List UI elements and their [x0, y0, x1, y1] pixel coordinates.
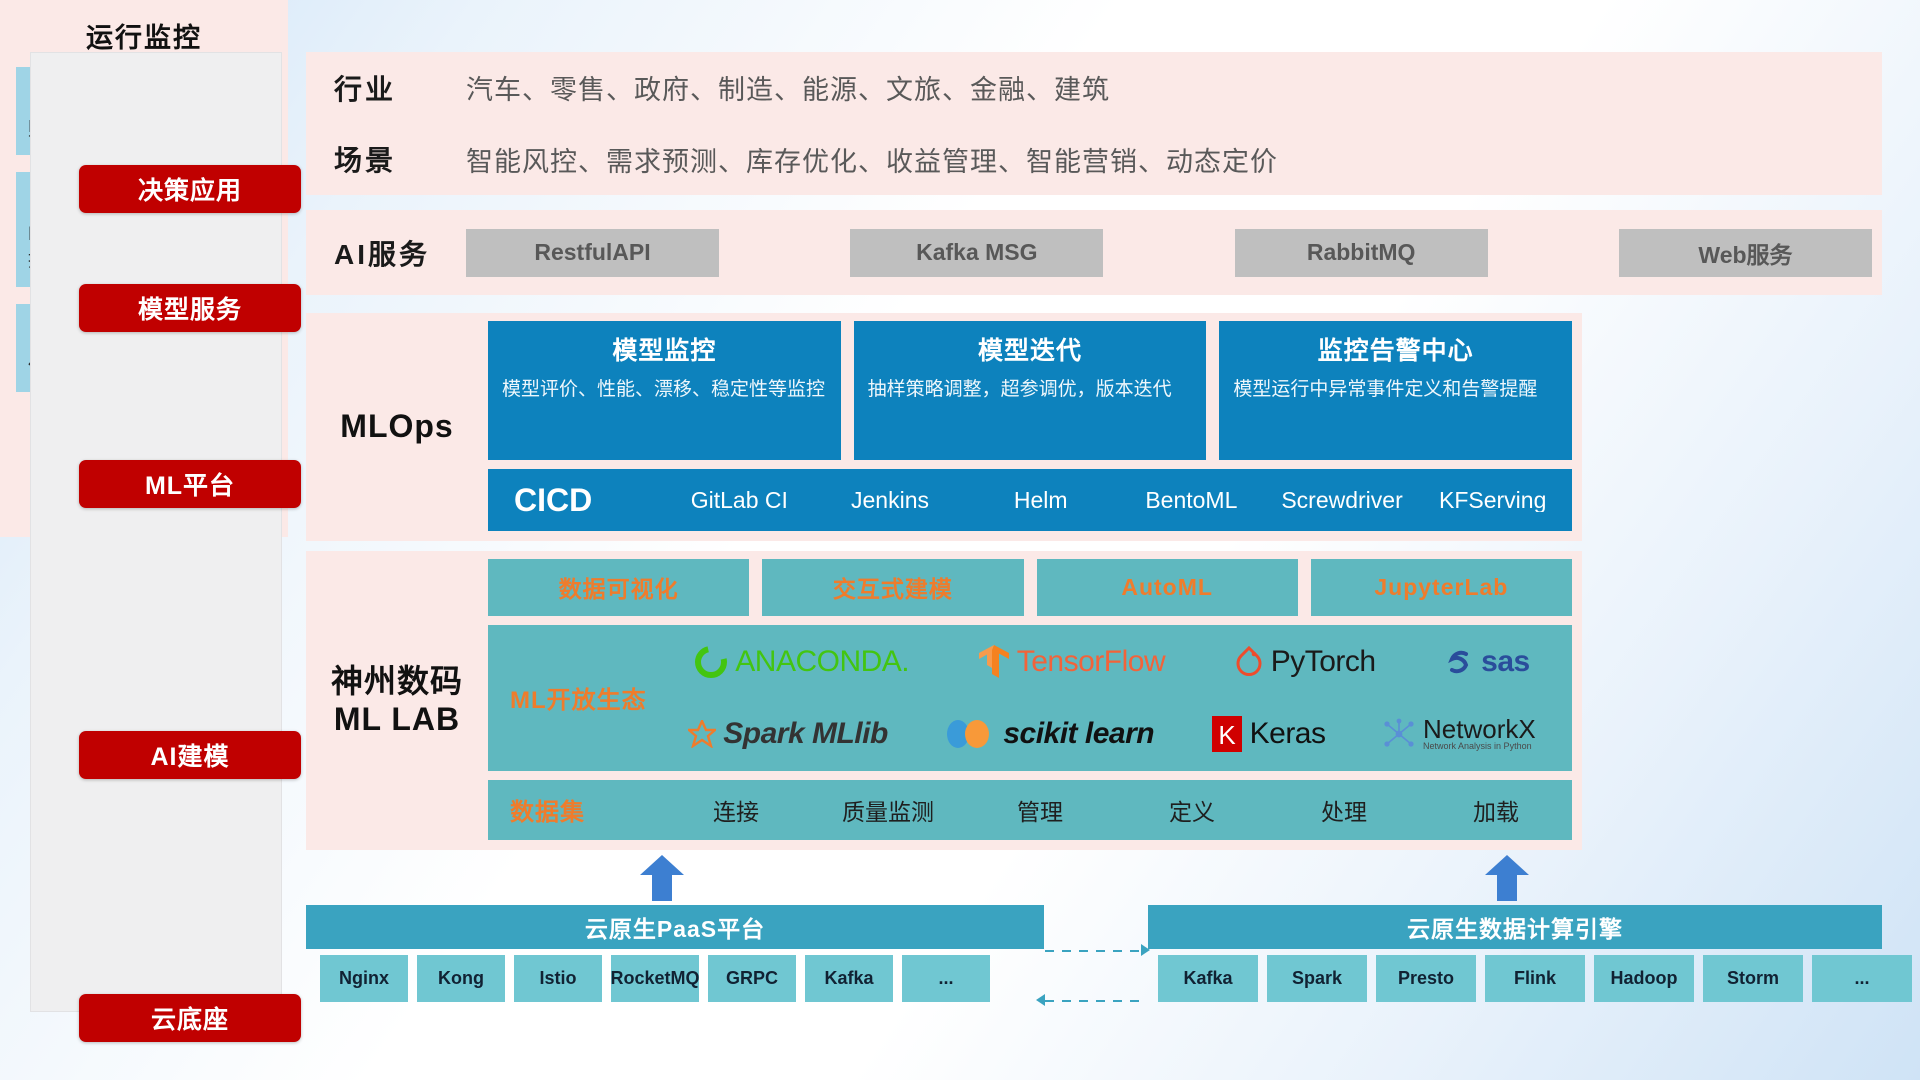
data-engine-chip-list: Kafka Spark Presto Flink Hadoop Storm ..… — [1158, 955, 1912, 1002]
industry-row: 行业 汽车、零售、政府、制造、能源、文旅、金融、建筑 — [306, 52, 1882, 124]
paas-chip[interactable]: RocketMQ — [611, 955, 699, 1002]
svg-text:K: K — [1218, 720, 1236, 750]
dataset-item[interactable]: 管理 — [964, 793, 1116, 827]
layer-pill-label: 云底座 — [151, 1000, 229, 1036]
ml-lab-label-line2: ML LAB — [331, 701, 463, 739]
up-arrow-icon-left — [640, 855, 684, 901]
anaconda-icon — [694, 645, 728, 679]
ml-lab-tab[interactable]: 数据可视化 — [488, 559, 749, 616]
mlops-band: MLOps 模型监控 模型评价、性能、漂移、稳定性等监控 模型迭代 抽样策略调整… — [306, 313, 1582, 541]
dashed-arrowhead-left — [1036, 994, 1045, 1006]
cloud-paas-title: 云原生PaaS平台 — [306, 905, 1044, 949]
mlops-card[interactable]: 监控告警中心 模型运行中异常事件定义和告警提醒 — [1219, 321, 1572, 460]
paas-chip-list: Nginx Kong Istio RocketMQ GRPC Kafka ... — [320, 955, 990, 1002]
dataset-item[interactable]: 连接 — [660, 793, 812, 827]
cicd-item[interactable]: Screwdriver — [1267, 488, 1418, 512]
ml-lab-label: 神州数码 ML LAB — [306, 551, 488, 850]
keras-icon: K — [1211, 715, 1243, 753]
layer-pill-decision-app[interactable]: 决策应用 — [79, 165, 301, 213]
mlops-card-title: 监控告警中心 — [1233, 331, 1558, 367]
mlops-card-desc: 模型评价、性能、漂移、稳定性等监控 — [502, 377, 827, 404]
scikit-learn-icon — [944, 717, 996, 751]
scenario-value: 智能风控、需求预测、库存优化、收益管理、智能营销、动态定价 — [466, 140, 1278, 179]
ml-lab-tab[interactable]: AutoML — [1037, 559, 1298, 616]
anaconda-label: ANACONDA. — [735, 645, 909, 679]
ecosystem-logo-row-1: ANACONDA. TensorFlow — [660, 628, 1564, 696]
ecosystem-logo-row-2: Spark MLlib scikit learn — [660, 700, 1564, 768]
scenario-row: 场景 智能风控、需求预测、库存优化、收益管理、智能营销、动态定价 — [306, 124, 1882, 196]
service-chip[interactable]: RestfulAPI — [466, 229, 719, 277]
mlops-content: 模型监控 模型评价、性能、漂移、稳定性等监控 模型迭代 抽样策略调整，超参调优，… — [488, 313, 1582, 541]
dataset-item[interactable]: 定义 — [1116, 793, 1268, 827]
data-engine-chip[interactable]: Flink — [1485, 955, 1585, 1002]
anaconda-logo: ANACONDA. — [694, 645, 909, 679]
ml-lab-tab-list: 数据可视化 交互式建模 AutoML JupyterLab — [488, 559, 1572, 616]
industry-label: 行业 — [334, 68, 466, 108]
cicd-item[interactable]: KFServing — [1417, 488, 1568, 512]
spark-mllib-label: Spark MLlib — [723, 717, 888, 751]
ml-lab-content: 数据可视化 交互式建模 AutoML JupyterLab ML开放生态 ANA… — [488, 551, 1582, 850]
service-chip[interactable]: Kafka MSG — [850, 229, 1103, 277]
data-engine-chip[interactable]: Presto — [1376, 955, 1476, 1002]
layer-pill-label: AI建模 — [150, 737, 229, 773]
tensorflow-icon — [978, 644, 1010, 680]
dataset-bar: 数据集 连接 质量监测 管理 定义 处理 加载 — [488, 780, 1572, 840]
dataset-item[interactable]: 加载 — [1420, 793, 1572, 827]
keras-label: Keras — [1250, 717, 1326, 751]
mlops-card-desc: 抽样策略调整，超参调优，版本迭代 — [868, 377, 1193, 404]
dataset-item[interactable]: 处理 — [1268, 793, 1420, 827]
spark-mllib-logo: Spark MLlib — [688, 717, 888, 751]
cicd-item[interactable]: Helm — [965, 488, 1116, 512]
ai-services-label: AI服务 — [334, 233, 466, 273]
mlops-card-title: 模型迭代 — [868, 331, 1193, 367]
networkx-icon — [1382, 718, 1416, 750]
up-arrow-icon-right — [1485, 855, 1529, 901]
ml-ecosystem-row: ML开放生态 ANACONDA. — [488, 625, 1572, 771]
layer-pill-label: 决策应用 — [138, 171, 242, 207]
cicd-item[interactable]: BentoML — [1116, 488, 1267, 512]
data-engine-chip[interactable]: Storm — [1703, 955, 1803, 1002]
industry-value: 汽车、零售、政府、制造、能源、文旅、金融、建筑 — [466, 68, 1110, 107]
keras-logo: K Keras — [1211, 715, 1326, 753]
mlops-card-list: 模型监控 模型评价、性能、漂移、稳定性等监控 模型迭代 抽样策略调整，超参调优，… — [488, 321, 1572, 460]
sas-icon — [1444, 647, 1474, 677]
cloud-data-engine-title: 云原生数据计算引擎 — [1148, 905, 1882, 949]
dataset-item[interactable]: 质量监测 — [812, 793, 964, 827]
data-engine-chip[interactable]: Spark — [1267, 955, 1367, 1002]
cicd-bar: CICD GitLab CI Jenkins Helm BentoML Scre… — [488, 469, 1572, 531]
ml-ecosystem-logos: ANACONDA. TensorFlow — [660, 628, 1572, 768]
data-engine-chip[interactable]: Kafka — [1158, 955, 1258, 1002]
data-engine-chip[interactable]: Hadoop — [1594, 955, 1694, 1002]
ml-lab-tab[interactable]: JupyterLab — [1311, 559, 1572, 616]
ml-lab-label-line1: 神州数码 — [331, 663, 463, 701]
architecture-diagram: 决策应用 模型服务 ML平台 AI建模 云底座 行业 汽车、零售、政府、制造、能… — [0, 0, 1920, 1080]
layer-pill-label: 模型服务 — [138, 290, 242, 326]
layer-pill-ai-modeling[interactable]: AI建模 — [79, 731, 301, 779]
pytorch-icon — [1234, 645, 1264, 679]
service-chip[interactable]: Web服务 — [1619, 229, 1872, 277]
dataset-label: 数据集 — [510, 792, 660, 827]
cicd-item-list: GitLab CI Jenkins Helm BentoML Screwdriv… — [664, 488, 1568, 512]
layer-pill-label: ML平台 — [145, 466, 235, 502]
mlops-label: MLOps — [306, 313, 488, 541]
networkx-label: NetworkX — [1423, 716, 1536, 742]
dashed-connector-right — [1045, 950, 1145, 952]
networkx-sublabel: Network Analysis in Python — [1423, 742, 1536, 751]
ml-ecosystem-label: ML开放生态 — [510, 680, 660, 715]
data-engine-chip[interactable]: ... — [1812, 955, 1912, 1002]
dashed-connector-left — [1045, 1000, 1145, 1002]
scikit-learn-logo: scikit learn — [944, 717, 1154, 751]
layer-pill-cloud-base[interactable]: 云底座 — [79, 994, 301, 1042]
applications-band: 行业 汽车、零售、政府、制造、能源、文旅、金融、建筑 场景 智能风控、需求预测、… — [306, 52, 1882, 195]
service-chip[interactable]: RabbitMQ — [1235, 229, 1488, 277]
ml-lab-band: 神州数码 ML LAB 数据可视化 交互式建模 AutoML JupyterLa… — [306, 551, 1582, 850]
layer-pill-ml-platform[interactable]: ML平台 — [79, 460, 301, 508]
sas-label: sas — [1481, 645, 1530, 679]
tensorflow-label: TensorFlow — [1017, 645, 1165, 679]
paas-chip[interactable]: GRPC — [708, 955, 796, 1002]
pytorch-label: PyTorch — [1271, 645, 1376, 679]
mlops-card-title: 模型监控 — [502, 331, 827, 367]
networkx-logo: NetworkX Network Analysis in Python — [1382, 716, 1536, 751]
paas-chip[interactable]: Istio — [514, 955, 602, 1002]
dataset-item-list: 连接 质量监测 管理 定义 处理 加载 — [660, 793, 1572, 827]
paas-chip[interactable]: Kafka — [805, 955, 893, 1002]
scenario-label: 场景 — [334, 139, 466, 179]
ai-services-list: RestfulAPI Kafka MSG RabbitMQ Web服务 — [466, 229, 1882, 277]
mlops-card-desc: 模型运行中异常事件定义和告警提醒 — [1233, 377, 1558, 404]
paas-chip[interactable]: Nginx — [320, 955, 408, 1002]
mlops-card[interactable]: 模型迭代 抽样策略调整，超参调优，版本迭代 — [854, 321, 1207, 460]
paas-chip[interactable]: ... — [902, 955, 990, 1002]
paas-chip[interactable]: Kong — [417, 955, 505, 1002]
layer-pill-model-service[interactable]: 模型服务 — [79, 284, 301, 332]
spark-star-icon — [688, 720, 716, 748]
cicd-title: CICD — [514, 482, 664, 519]
ml-lab-tab[interactable]: 交互式建模 — [762, 559, 1023, 616]
scikit-learn-label: scikit learn — [1003, 717, 1154, 751]
layer-rail: 决策应用 模型服务 ML平台 AI建模 云底座 — [30, 52, 282, 1012]
cicd-item[interactable]: GitLab CI — [664, 488, 815, 512]
pytorch-logo: PyTorch — [1234, 645, 1376, 679]
ai-services-band: AI服务 RestfulAPI Kafka MSG RabbitMQ Web服务 — [306, 210, 1882, 295]
tensorflow-logo: TensorFlow — [978, 644, 1165, 680]
cicd-item[interactable]: Jenkins — [815, 488, 966, 512]
sas-logo: sas — [1444, 645, 1530, 679]
mlops-card[interactable]: 模型监控 模型评价、性能、漂移、稳定性等监控 — [488, 321, 841, 460]
